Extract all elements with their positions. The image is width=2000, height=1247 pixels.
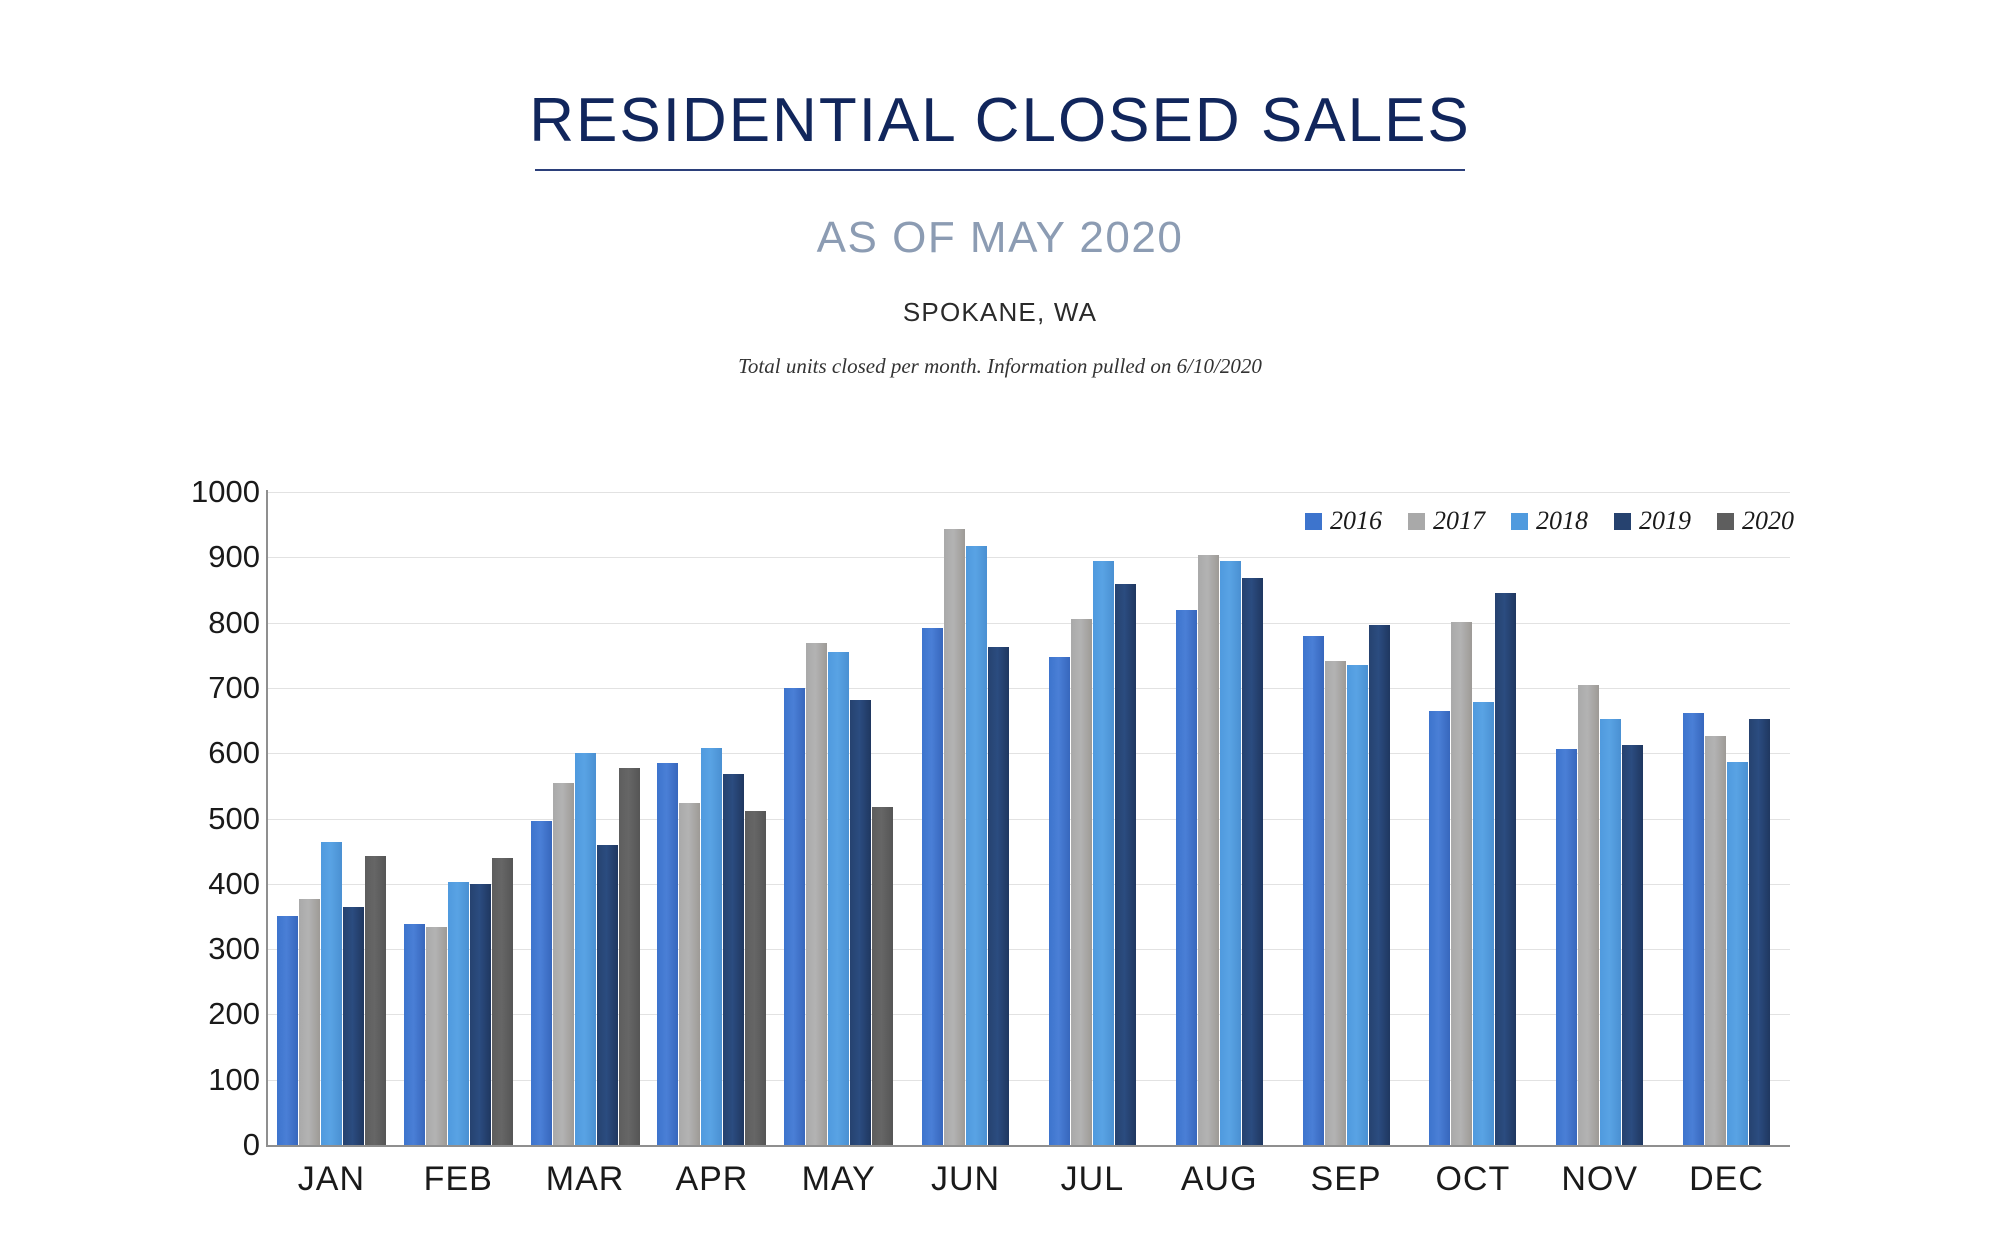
bar-group-jun	[902, 492, 1029, 1145]
bar-oct-2019[interactable]	[1495, 593, 1516, 1145]
bar-group-may	[775, 492, 902, 1145]
bar-may-2020[interactable]	[872, 807, 893, 1145]
bar-feb-2017[interactable]	[426, 927, 447, 1145]
bar-jun-2019[interactable]	[988, 647, 1009, 1145]
legend-label-2017: 2017	[1433, 508, 1485, 534]
bar-jun-2017[interactable]	[944, 529, 965, 1145]
y-axis-tick-labels: 10009008007006005004003002001000	[150, 470, 260, 1170]
bar-dec-2017[interactable]	[1705, 736, 1726, 1145]
chart-plot-area: 10009008007006005004003002001000 JANFEBM…	[0, 0, 2000, 1247]
y-axis-tick-500: 500	[208, 801, 260, 837]
y-axis-tick-700: 700	[208, 670, 260, 706]
legend-label-2020: 2020	[1742, 508, 1794, 534]
bar-apr-2020[interactable]	[745, 811, 766, 1145]
bar-apr-2018[interactable]	[701, 748, 722, 1145]
x-axis-tick-dec: DEC	[1663, 1160, 1790, 1199]
y-axis-tick-0: 0	[243, 1127, 260, 1163]
bar-apr-2016[interactable]	[657, 763, 678, 1145]
legend-item-2017[interactable]: 2017	[1408, 508, 1485, 534]
bar-oct-2016[interactable]	[1429, 711, 1450, 1145]
bar-group-jul	[1029, 492, 1156, 1145]
bar-may-2017[interactable]	[806, 643, 827, 1145]
bar-group-sep	[1283, 492, 1410, 1145]
bar-group-apr	[648, 492, 775, 1145]
bar-aug-2018[interactable]	[1220, 561, 1241, 1145]
bar-nov-2019[interactable]	[1622, 745, 1643, 1145]
bar-oct-2018[interactable]	[1473, 702, 1494, 1145]
y-axis-tick-300: 300	[208, 931, 260, 967]
bar-nov-2017[interactable]	[1578, 685, 1599, 1145]
x-axis-tick-jan: JAN	[268, 1160, 395, 1199]
bar-nov-2018[interactable]	[1600, 719, 1621, 1145]
bar-feb-2016[interactable]	[404, 924, 425, 1145]
bar-sep-2019[interactable]	[1369, 625, 1390, 1145]
legend-swatch-2018	[1511, 513, 1528, 530]
bar-mar-2019[interactable]	[597, 845, 618, 1145]
bar-dec-2016[interactable]	[1683, 713, 1704, 1145]
bar-dec-2018[interactable]	[1727, 762, 1748, 1145]
x-axis-tick-aug: AUG	[1156, 1160, 1283, 1199]
bar-dec-2019[interactable]	[1749, 719, 1770, 1145]
legend-label-2019: 2019	[1639, 508, 1691, 534]
bar-jul-2018[interactable]	[1093, 561, 1114, 1145]
legend-swatch-2016	[1305, 513, 1322, 530]
legend-label-2018: 2018	[1536, 508, 1588, 534]
bar-group-aug	[1156, 492, 1283, 1145]
legend-item-2018[interactable]: 2018	[1511, 508, 1588, 534]
bar-jun-2018[interactable]	[966, 546, 987, 1145]
bar-sep-2018[interactable]	[1347, 665, 1368, 1145]
y-axis-tick-100: 100	[208, 1062, 260, 1098]
bar-apr-2019[interactable]	[723, 774, 744, 1145]
bar-sep-2017[interactable]	[1325, 661, 1346, 1145]
bar-jan-2016[interactable]	[277, 916, 298, 1145]
bar-oct-2017[interactable]	[1451, 622, 1472, 1145]
x-axis-tick-sep: SEP	[1283, 1160, 1410, 1199]
bar-sep-2016[interactable]	[1303, 636, 1324, 1145]
y-axis-tick-600: 600	[208, 735, 260, 771]
bar-nov-2016[interactable]	[1556, 749, 1577, 1145]
bar-jul-2016[interactable]	[1049, 657, 1070, 1145]
bar-jan-2020[interactable]	[365, 856, 386, 1145]
bar-mar-2018[interactable]	[575, 753, 596, 1145]
legend-item-2019[interactable]: 2019	[1614, 508, 1691, 534]
y-axis-tick-200: 200	[208, 996, 260, 1032]
y-axis-tick-1000: 1000	[191, 474, 260, 510]
legend-item-2016[interactable]: 2016	[1305, 508, 1382, 534]
x-axis-tick-labels: JANFEBMARAPRMAYJUNJULAUGSEPOCTNOVDEC	[268, 1160, 1790, 1199]
bar-feb-2019[interactable]	[470, 884, 491, 1145]
bar-group-nov	[1536, 492, 1663, 1145]
bar-may-2019[interactable]	[850, 700, 871, 1145]
y-axis-tick-900: 900	[208, 539, 260, 575]
bar-mar-2017[interactable]	[553, 783, 574, 1145]
bar-jan-2017[interactable]	[299, 899, 320, 1145]
x-axis-line	[266, 1145, 1790, 1147]
x-axis-tick-apr: APR	[648, 1160, 775, 1199]
x-axis-tick-may: MAY	[775, 1160, 902, 1199]
bar-aug-2016[interactable]	[1176, 610, 1197, 1145]
bar-jan-2019[interactable]	[343, 907, 364, 1145]
legend-item-2020[interactable]: 2020	[1717, 508, 1794, 534]
bar-mar-2016[interactable]	[531, 821, 552, 1145]
x-axis-tick-jul: JUL	[1029, 1160, 1156, 1199]
bar-group-feb	[395, 492, 522, 1145]
bar-group-oct	[1409, 492, 1536, 1145]
x-axis-tick-oct: OCT	[1409, 1160, 1536, 1199]
bar-jan-2018[interactable]	[321, 842, 342, 1145]
bar-jul-2017[interactable]	[1071, 619, 1092, 1145]
bar-apr-2017[interactable]	[679, 803, 700, 1145]
x-axis-tick-feb: FEB	[395, 1160, 522, 1199]
bar-group-jan	[268, 492, 395, 1145]
legend-swatch-2020	[1717, 513, 1734, 530]
bar-jul-2019[interactable]	[1115, 584, 1136, 1145]
x-axis-tick-nov: NOV	[1536, 1160, 1663, 1199]
bar-group-mar	[522, 492, 649, 1145]
legend-label-2016: 2016	[1330, 508, 1382, 534]
x-axis-tick-jun: JUN	[902, 1160, 1029, 1199]
legend-swatch-2017	[1408, 513, 1425, 530]
bar-feb-2018[interactable]	[448, 882, 469, 1145]
bar-aug-2019[interactable]	[1242, 578, 1263, 1145]
legend-swatch-2019	[1614, 513, 1631, 530]
y-axis-tick-800: 800	[208, 605, 260, 641]
x-axis-tick-mar: MAR	[522, 1160, 649, 1199]
bar-jun-2016[interactable]	[922, 628, 943, 1145]
y-axis-tick-400: 400	[208, 866, 260, 902]
bar-group-dec	[1663, 492, 1790, 1145]
bar-may-2018[interactable]	[828, 652, 849, 1145]
bar-mar-2020[interactable]	[619, 768, 640, 1145]
bar-may-2016[interactable]	[784, 688, 805, 1145]
chart-legend: 20162017201820192020	[1305, 508, 1794, 534]
bar-series-layer	[268, 492, 1790, 1145]
bar-aug-2017[interactable]	[1198, 555, 1219, 1145]
bar-feb-2020[interactable]	[492, 858, 513, 1145]
